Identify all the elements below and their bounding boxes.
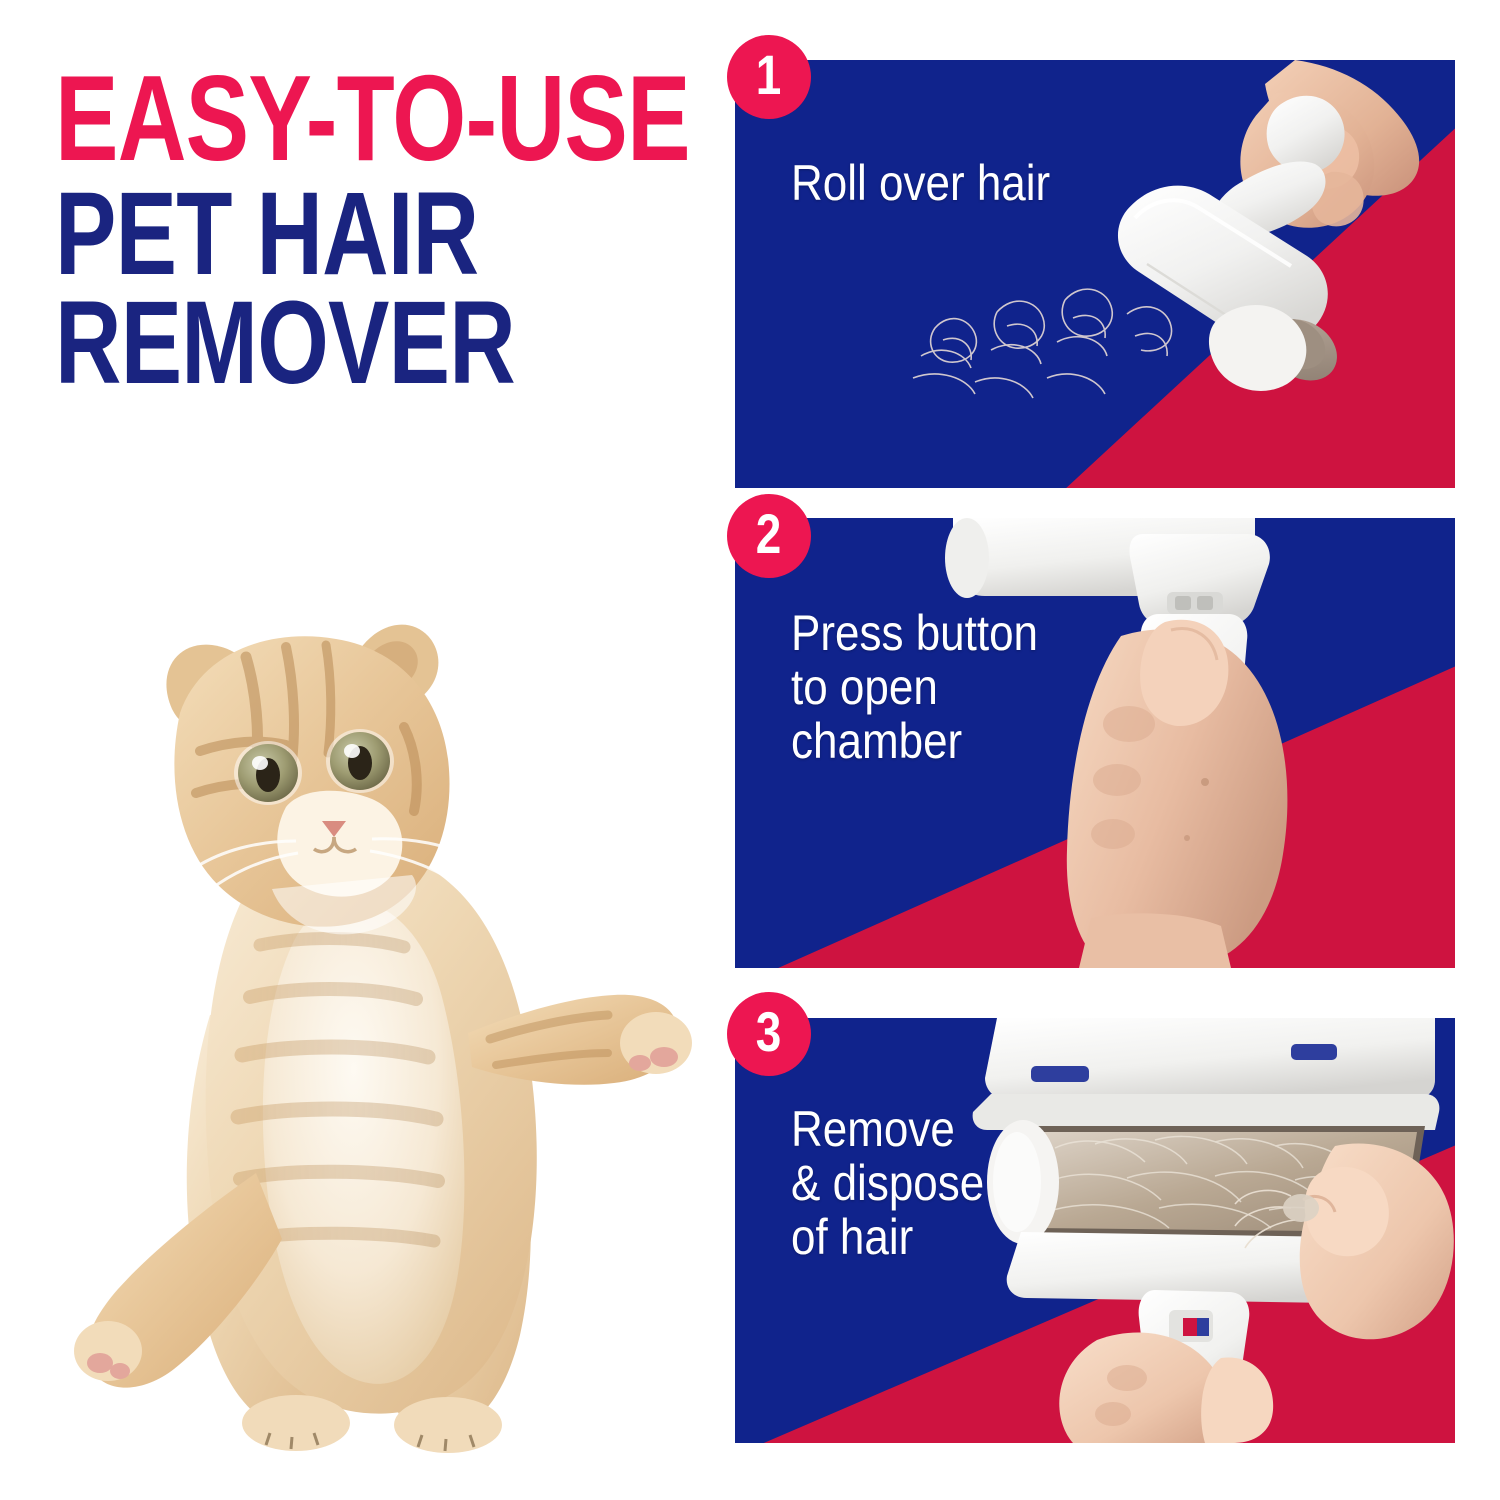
step-2-caption: Press button to open chamber: [791, 606, 1038, 768]
infographic-root: EASY-TO-USE PET HAIR REMOVER: [0, 0, 1500, 1500]
step-panel-1: Roll over hair 1: [735, 60, 1455, 488]
step-1-number: 1: [756, 47, 782, 103]
headline-line-1: EASY-TO-USE: [55, 62, 570, 174]
cat-illustration: [60, 545, 700, 1455]
step-panel-3: Remove & dispose of hair 3: [735, 1018, 1455, 1443]
step-2-number: 2: [756, 506, 782, 562]
step-3-caption: Remove & dispose of hair: [791, 1102, 984, 1264]
hero-cat-image: [60, 545, 700, 1455]
step-panel-2: Press button to open chamber 2: [735, 518, 1455, 968]
headline-line-2: PET HAIR: [55, 180, 570, 289]
step-1-caption: Roll over hair: [791, 156, 1050, 210]
headline-line-3: REMOVER: [55, 289, 570, 398]
step-3-number-badge: 3: [727, 992, 811, 1076]
page-title: EASY-TO-USE PET HAIR REMOVER: [55, 62, 715, 397]
step-2-number-badge: 2: [727, 494, 811, 578]
step-1-photo: [735, 60, 1455, 488]
step-1-number-badge: 1: [727, 35, 811, 119]
step-3-number: 3: [756, 1004, 782, 1060]
